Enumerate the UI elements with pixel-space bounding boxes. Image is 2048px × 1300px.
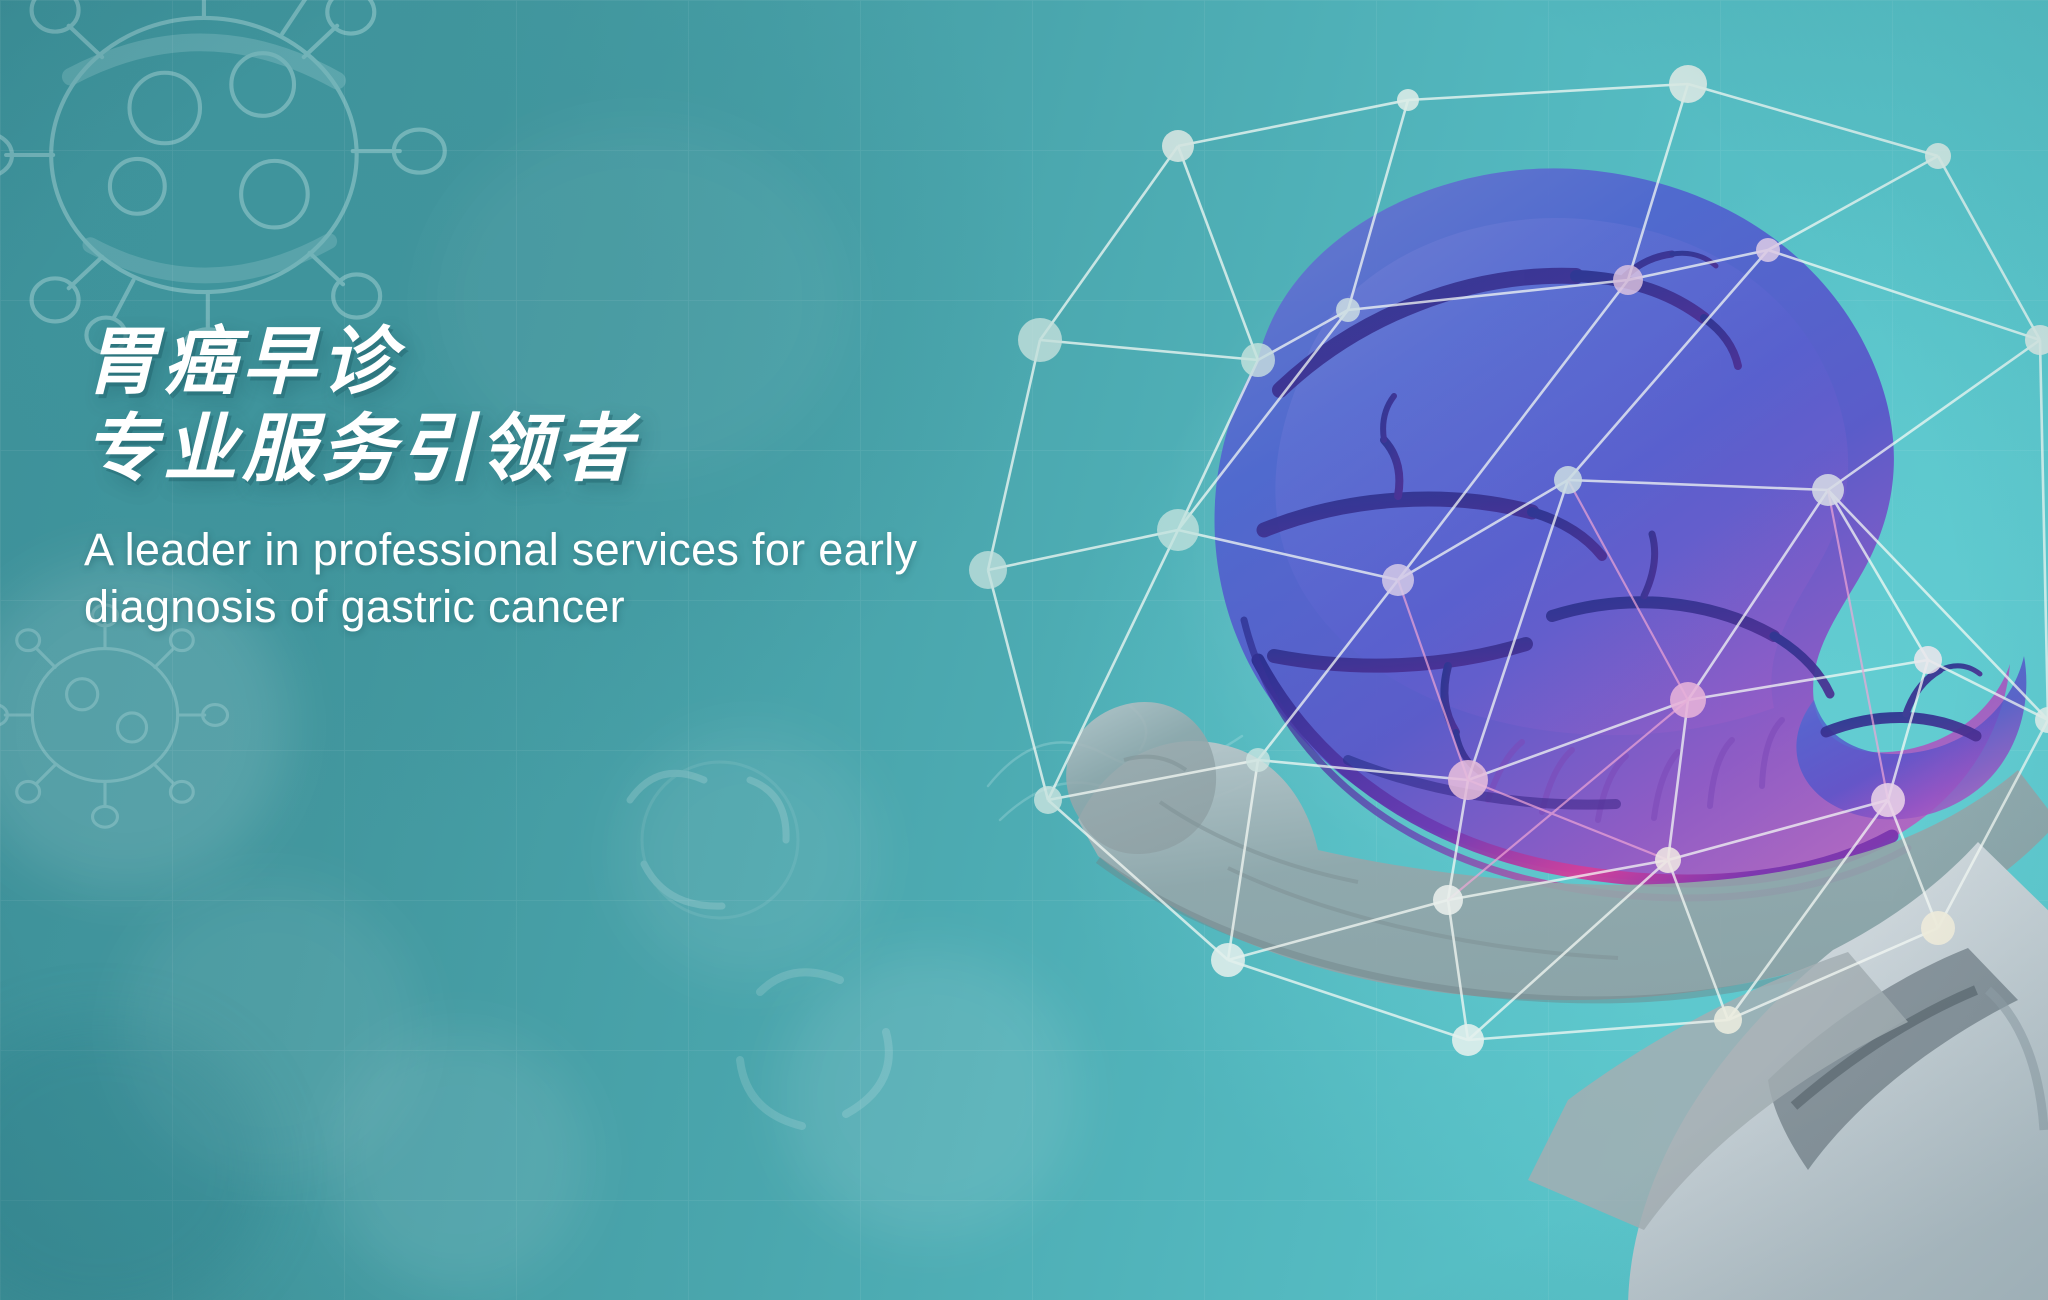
banner-hero: 胃癌早诊 专业服务引领者 A leader in professional se… — [0, 0, 2048, 1300]
vignette-overlay — [0, 0, 2048, 1300]
